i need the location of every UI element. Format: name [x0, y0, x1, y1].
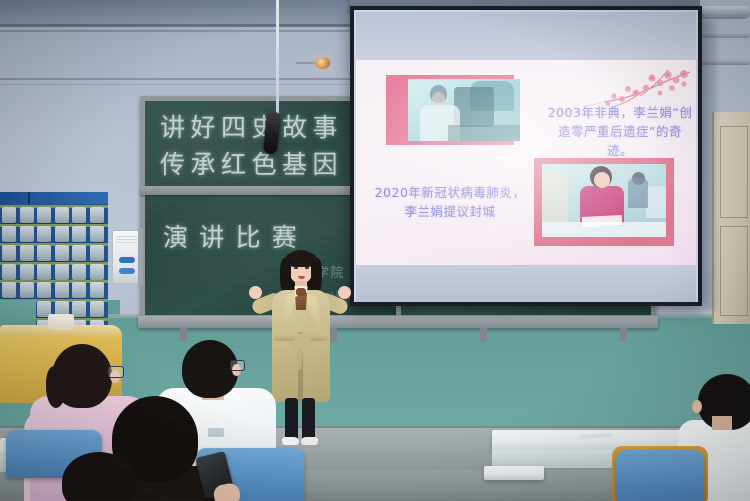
- chalk-tray-leg-3: [480, 328, 487, 342]
- attendee-3-shape: [646, 186, 666, 218]
- desk-shape: [448, 125, 520, 141]
- presenter-eye-left: [294, 267, 298, 269]
- slide-photo-2-frame: [534, 158, 674, 246]
- presenter-pant-right: [302, 398, 315, 440]
- presentation-slide: 2003年非典，李兰娟“创造零严重后遗症”的奇迹。 2020年新冠状病毒肺炎，李…: [356, 60, 696, 265]
- phone-pocket[interactable]: [72, 226, 86, 242]
- presenter-shoe-right: [301, 437, 318, 445]
- phone-pocket[interactable]: [90, 245, 104, 261]
- slide-photo-1-frame: [386, 75, 514, 145]
- podium-side-panel: [0, 300, 36, 328]
- phone-pocket[interactable]: [2, 207, 16, 223]
- slide-text-left: 2020年新冠状病毒肺炎，李兰娟提议封城: [374, 184, 526, 222]
- student-e-neck: [712, 416, 732, 430]
- microphone-cable: [276, 0, 279, 116]
- student-desk-right-shelf: [484, 466, 544, 480]
- phone-pocket[interactable]: [72, 282, 86, 298]
- screen-unlit-bottom: [356, 265, 696, 302]
- presenter-pant-left: [285, 398, 298, 440]
- phone-pocket[interactable]: [20, 207, 34, 223]
- slide-photo-1: [408, 79, 520, 141]
- podium-object: [48, 314, 74, 330]
- phone-pocket[interactable]: [37, 245, 51, 261]
- phone-pocket[interactable]: [90, 207, 104, 223]
- control-panel-label: [116, 236, 137, 243]
- wall-control-panel[interactable]: [112, 230, 141, 284]
- student-d: [62, 452, 152, 501]
- door-panel-lower: [720, 226, 748, 316]
- phone-pocket[interactable]: [20, 282, 34, 298]
- chalk-tray-leg-4: [620, 328, 627, 342]
- classroom-door[interactable]: [712, 112, 750, 324]
- phone-pocket[interactable]: [2, 282, 16, 298]
- presenter-scarf-knot: [296, 288, 306, 296]
- projection-screen-surface: 2003年非典，李兰娟“创造零严重后遗症”的奇迹。 2020年新冠状病毒肺炎，李…: [354, 10, 698, 302]
- phone-pocket[interactable]: [90, 282, 104, 298]
- blackboard-text-line-2: 传承红色基因: [160, 145, 343, 181]
- phone-pocket[interactable]: [20, 245, 34, 261]
- wall-conduit: [138, 228, 143, 286]
- phone-pocket[interactable]: [20, 226, 34, 242]
- control-panel-button-2[interactable]: [119, 268, 135, 274]
- slide-text-right: 2003年非典，李兰娟“创造零严重后遗症”的奇迹。: [546, 104, 694, 160]
- student-d-head: [62, 452, 136, 501]
- presenter-hair-left: [280, 258, 291, 292]
- blackboard-text-line-1: 讲好四史故事: [160, 108, 343, 144]
- phone-pocket[interactable]: [72, 245, 86, 261]
- presenter-right-hand: [338, 286, 351, 299]
- phone-pocket[interactable]: [2, 245, 16, 261]
- student-b-glasses: [230, 360, 245, 371]
- student-a-glasses: [108, 366, 124, 378]
- presenter-left-hand: [249, 286, 262, 299]
- chair-right[interactable]: [616, 450, 704, 501]
- phone-pocket[interactable]: [72, 264, 86, 280]
- background-panel-shape: [542, 174, 568, 222]
- phone-pocket[interactable]: [2, 264, 16, 280]
- chalk-tray: [138, 316, 658, 328]
- classroom-scene: 讲好四史故事 传承红色基因 演讲比赛 学院 比赛: [0, 0, 750, 501]
- presenter-eye-right: [305, 267, 309, 269]
- pocket-organizer-header-split: [28, 192, 30, 204]
- phone-pocket[interactable]: [55, 226, 69, 242]
- phone-pocket[interactable]: [90, 301, 104, 317]
- phone-pocket[interactable]: [37, 282, 51, 298]
- phone-pocket[interactable]: [37, 207, 51, 223]
- screen-shadow: [700, 20, 716, 310]
- phone-pocket[interactable]: [55, 207, 69, 223]
- phone-pocket[interactable]: [55, 264, 69, 280]
- phone-pocket[interactable]: [72, 301, 86, 317]
- slide-photo-2: [542, 164, 666, 237]
- phone-pocket[interactable]: [55, 282, 69, 298]
- door-panel-upper: [720, 126, 748, 218]
- projection-screen: 2003年非典，李兰娟“创造零严重后遗症”的奇迹。 2020年新冠状病毒肺炎，李…: [350, 6, 702, 306]
- phone-pocket[interactable]: [37, 264, 51, 280]
- phone-pocket[interactable]: [90, 264, 104, 280]
- phone-pocket[interactable]: [90, 226, 104, 242]
- ceiling-lamp-icon: [315, 57, 330, 69]
- pocket-organizer-header: [0, 192, 108, 204]
- phone-pocket[interactable]: [37, 226, 51, 242]
- control-panel-button-1[interactable]: [119, 257, 135, 263]
- student-a-hair: [46, 366, 66, 408]
- paper-shape: [582, 215, 622, 227]
- phone-pocket[interactable]: [20, 264, 34, 280]
- screen-unlit-top: [356, 12, 696, 60]
- phone-pocket[interactable]: [72, 207, 86, 223]
- monitor-shape: [454, 87, 494, 127]
- speaker-face-shape: [594, 172, 610, 188]
- student-e-ear: [692, 400, 702, 413]
- phone-pocket[interactable]: [2, 226, 16, 242]
- doctor-face-shape: [432, 92, 445, 105]
- attendee-2-shape: [628, 178, 648, 208]
- presenter-hair-right: [311, 258, 322, 292]
- phone-pocket[interactable]: [55, 245, 69, 261]
